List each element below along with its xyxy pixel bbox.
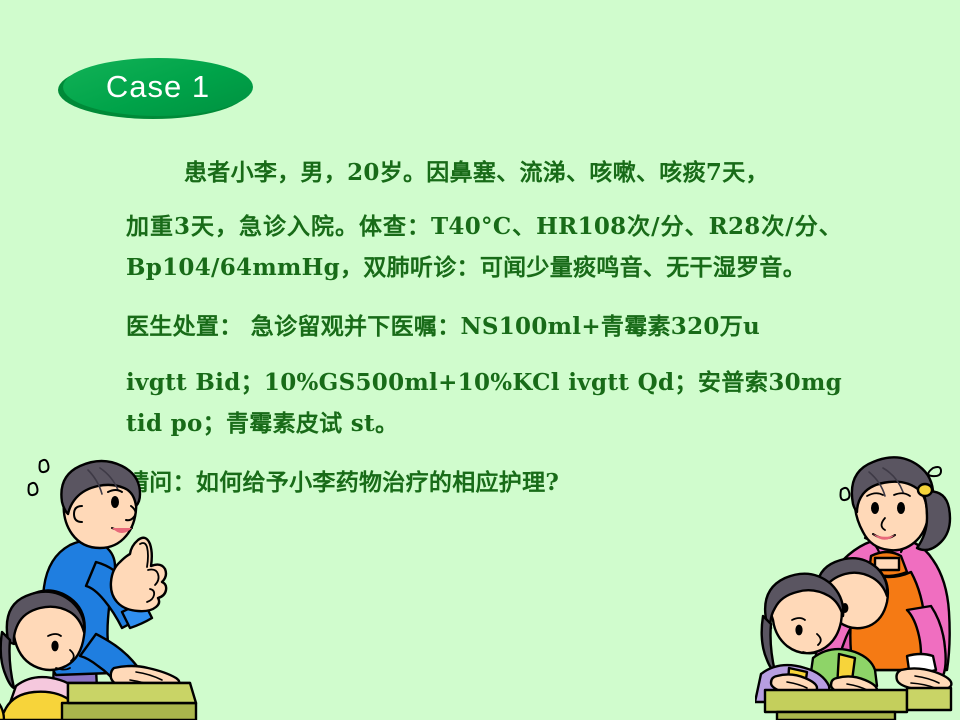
paragraph-order-body: ivgtt Bid；10%GS500ml+10%KCl ivgtt Qd；安普索… xyxy=(126,362,842,444)
case-body-text: 患者小李，男，20岁。因鼻塞、流涕、咳嗽、咳痰7天， 加重3天，急诊入院。体查：… xyxy=(126,152,842,503)
slide-canvas: Case 1 患者小李，男，20岁。因鼻塞、流涕、咳嗽、咳痰7天， 加重3天，急… xyxy=(0,0,960,720)
paragraph-history: 患者小李，男，20岁。因鼻塞、流涕、咳嗽、咳痰7天， xyxy=(126,152,842,193)
paragraph-question: 请问：如何给予小李药物治疗的相应护理? xyxy=(126,462,842,503)
case-badge: Case 1 xyxy=(58,58,253,121)
paragraph-exam: 加重3天，急诊入院。体查：T40°C、HR108次/分、R28次/分、Bp104… xyxy=(126,206,842,288)
case-badge-label: Case 1 xyxy=(63,58,253,116)
paragraph-order-head: 医生处置： 急诊留观并下医嘱：NS100ml+青霉素320万u xyxy=(126,306,842,347)
illustration-right-woman-children xyxy=(755,430,960,720)
illustration-left-boy-pointing xyxy=(0,440,215,720)
